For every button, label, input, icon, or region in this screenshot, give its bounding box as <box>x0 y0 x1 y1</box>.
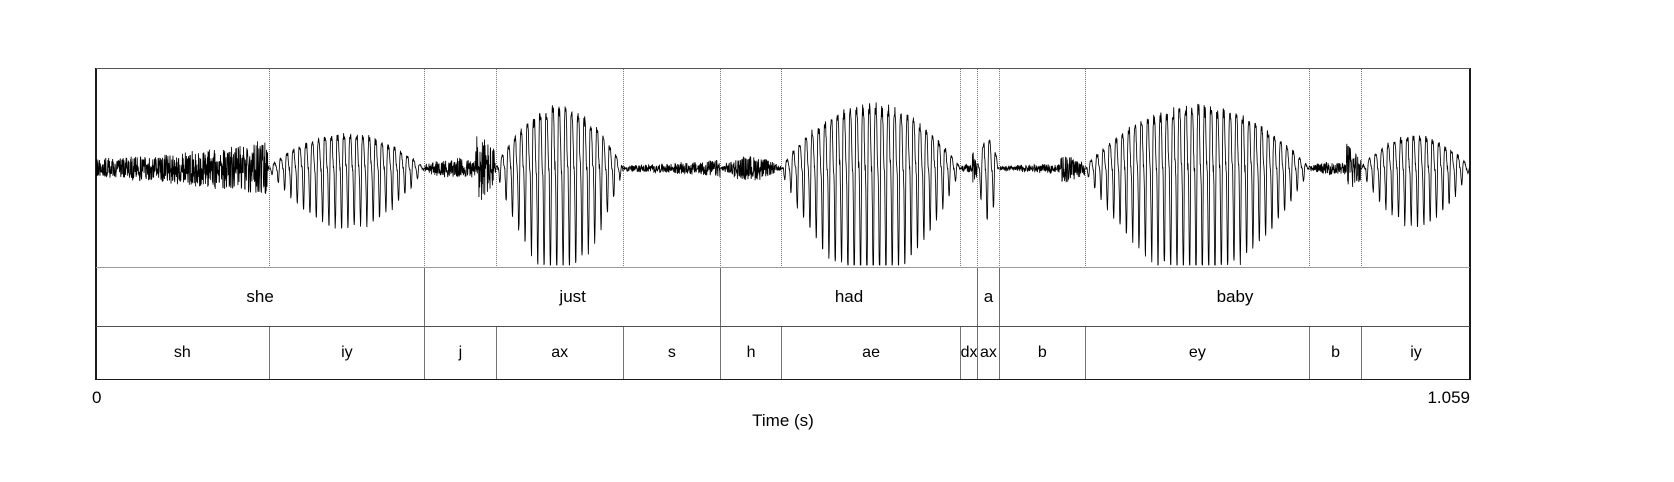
boundary-line-7[interactable] <box>977 69 978 268</box>
boundary-line-8[interactable] <box>999 69 1000 268</box>
plot-frame: shejusthadababy shiyjaxshaedxaxbeybiy <box>96 68 1470 380</box>
interval-words-she-0[interactable]: she <box>96 268 424 326</box>
interval-words-just-1[interactable]: just <box>424 268 720 326</box>
tier-words[interactable]: shejusthadababy <box>96 267 1470 327</box>
boundary-line-9[interactable] <box>1085 69 1086 268</box>
axis-tick-start: 0 <box>92 388 101 408</box>
boundary-line-5[interactable] <box>781 69 782 268</box>
interval-phones-dx-7[interactable]: dx <box>960 327 977 379</box>
boundary-line-4[interactable] <box>720 69 721 268</box>
interval-phones-ey-10[interactable]: ey <box>1085 327 1309 379</box>
interval-words-a-3[interactable]: a <box>977 268 999 326</box>
interval-phones-sh-0[interactable]: sh <box>96 327 269 379</box>
tier-phones[interactable]: shiyjaxshaedxaxbeybiy <box>96 327 1470 380</box>
boundary-line-11[interactable] <box>1361 69 1362 268</box>
boundary-line-10[interactable] <box>1309 69 1310 268</box>
praat-waveform-textgrid-figure: shejusthadababy shiyjaxshaedxaxbeybiy 0 … <box>0 0 1674 482</box>
boundary-line-2[interactable] <box>496 69 497 268</box>
boundary-line-6[interactable] <box>960 69 961 268</box>
interval-phones-ax-3[interactable]: ax <box>496 327 623 379</box>
interval-words-had-2[interactable]: had <box>720 268 977 326</box>
waveform-oscillogram <box>96 69 1470 268</box>
interval-phones-ae-6[interactable]: ae <box>781 327 960 379</box>
interval-words-baby-4[interactable]: baby <box>999 268 1470 326</box>
interval-phones-iy-1[interactable]: iy <box>269 327 425 379</box>
boundary-line-0[interactable] <box>269 69 270 268</box>
interval-phones-j-2[interactable]: j <box>424 327 495 379</box>
interval-phones-ax-8[interactable]: ax <box>977 327 999 379</box>
interval-phones-iy-12[interactable]: iy <box>1361 327 1470 379</box>
waveform-trace <box>96 102 1470 265</box>
boundary-line-1[interactable] <box>424 69 425 268</box>
interval-phones-h-5[interactable]: h <box>720 327 781 379</box>
waveform-panel[interactable] <box>96 68 1470 267</box>
axis-title-time: Time (s) <box>683 411 883 431</box>
interval-phones-s-4[interactable]: s <box>623 327 720 379</box>
axis-tick-end: 1.059 <box>1406 388 1470 408</box>
interval-phones-b-9[interactable]: b <box>999 327 1085 379</box>
boundary-line-3[interactable] <box>623 69 624 268</box>
interval-phones-b-11[interactable]: b <box>1309 327 1361 379</box>
